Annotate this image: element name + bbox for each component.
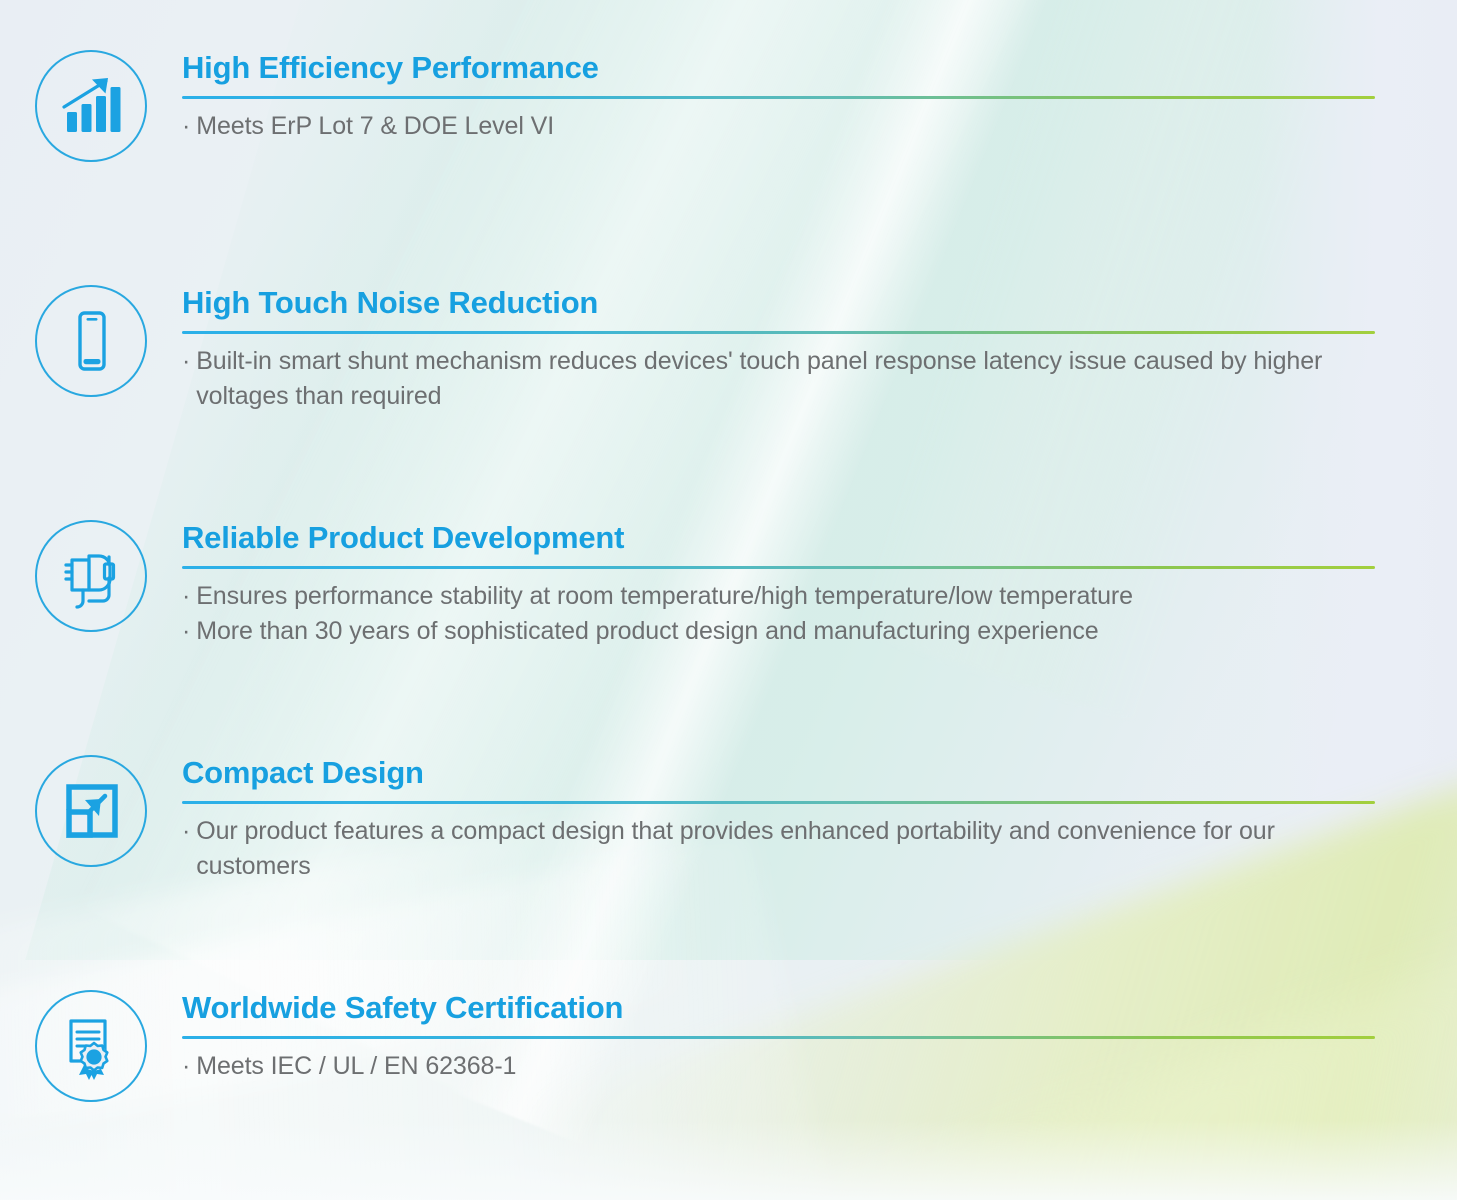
feature-item-compact-design: Compact Design · Our product features a …: [0, 753, 1457, 885]
feature-bullet: · Meets ErP Lot 7 & DOE Level VI: [182, 109, 1375, 145]
feature-body: Compact Design · Our product features a …: [182, 753, 1457, 885]
feature-bullets: · Our product features a compact design …: [182, 814, 1375, 885]
feature-body: Reliable Product Development · Ensures p…: [182, 518, 1457, 650]
feature-bullets: · Meets IEC / UL / EN 62368-1: [182, 1049, 1375, 1085]
bullet-text: More than 30 years of sophisticated prod…: [196, 614, 1375, 650]
feature-title: Worldwide Safety Certification: [182, 992, 1375, 1025]
bullet-dot-icon: ·: [182, 109, 190, 145]
feature-title: Compact Design: [182, 757, 1375, 790]
bullet-text: Built-in smart shunt mechanism reduces d…: [196, 344, 1375, 415]
bullet-dot-icon: ·: [182, 814, 190, 850]
feature-title: Reliable Product Development: [182, 522, 1375, 555]
certificate-seal-icon: [35, 990, 147, 1102]
feature-icon-wrap: [0, 988, 182, 1102]
feature-bullets: · Built-in smart shunt mechanism reduces…: [182, 344, 1375, 415]
feature-divider: [182, 1036, 1375, 1039]
bullet-dot-icon: ·: [182, 579, 190, 615]
power-adapter-icon: [35, 520, 147, 632]
feature-bullet: · Meets IEC / UL / EN 62368-1: [182, 1049, 1375, 1085]
feature-body: High Efficiency Performance · Meets ErP …: [182, 48, 1457, 144]
bullet-text: Our product features a compact design th…: [196, 814, 1375, 885]
feature-body: High Touch Noise Reduction · Built-in sm…: [182, 283, 1457, 415]
feature-divider: [182, 801, 1375, 804]
feature-icon-wrap: [0, 283, 182, 397]
bullet-text: Meets ErP Lot 7 & DOE Level VI: [196, 109, 1375, 145]
feature-icon-wrap: [0, 753, 182, 867]
feature-bullet: · Ensures performance stability at room …: [182, 579, 1375, 615]
smartphone-icon: [35, 285, 147, 397]
feature-icon-wrap: [0, 518, 182, 632]
feature-divider: [182, 96, 1375, 99]
feature-bullet: · Our product features a compact design …: [182, 814, 1375, 885]
feature-title: High Efficiency Performance: [182, 52, 1375, 85]
bar-chart-growth-icon: [35, 50, 147, 162]
feature-highlights-page: High Efficiency Performance · Meets ErP …: [0, 0, 1457, 1200]
bullet-dot-icon: ·: [182, 344, 190, 380]
feature-bullets: · Ensures performance stability at room …: [182, 579, 1375, 650]
feature-item-high-touch-noise-reduction: High Touch Noise Reduction · Built-in sm…: [0, 283, 1457, 415]
feature-title: High Touch Noise Reduction: [182, 287, 1375, 320]
feature-list: High Efficiency Performance · Meets ErP …: [0, 0, 1457, 1200]
feature-item-high-efficiency-performance: High Efficiency Performance · Meets ErP …: [0, 48, 1457, 162]
compact-resize-icon: [35, 755, 147, 867]
feature-bullets: · Meets ErP Lot 7 & DOE Level VI: [182, 109, 1375, 145]
feature-bullet: · More than 30 years of sophisticated pr…: [182, 614, 1375, 650]
feature-item-reliable-product-development: Reliable Product Development · Ensures p…: [0, 518, 1457, 650]
bullet-text: Ensures performance stability at room te…: [196, 579, 1375, 615]
feature-bullet: · Built-in smart shunt mechanism reduces…: [182, 344, 1375, 415]
bullet-dot-icon: ·: [182, 1049, 190, 1085]
feature-item-worldwide-safety-certification: Worldwide Safety Certification · Meets I…: [0, 988, 1457, 1102]
feature-icon-wrap: [0, 48, 182, 162]
feature-body: Worldwide Safety Certification · Meets I…: [182, 988, 1457, 1084]
feature-divider: [182, 566, 1375, 569]
bullet-text: Meets IEC / UL / EN 62368-1: [196, 1049, 1375, 1085]
bullet-dot-icon: ·: [182, 614, 190, 650]
feature-divider: [182, 331, 1375, 334]
